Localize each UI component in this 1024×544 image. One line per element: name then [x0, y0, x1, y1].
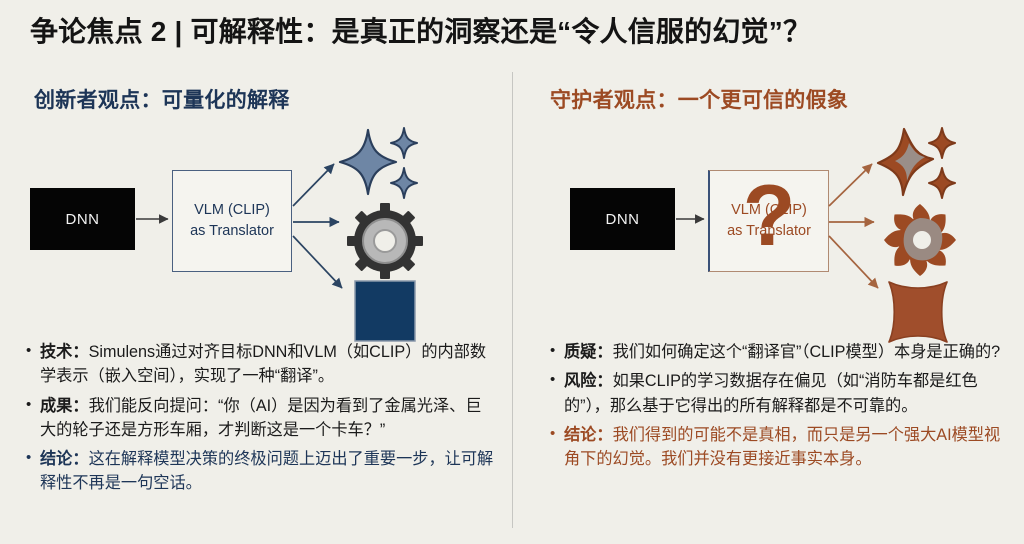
- bullet-body: Simulens通过对齐目标DNN和VLM（如CLIP）的内部数学表示（嵌入空间…: [40, 343, 486, 385]
- page-title: 争论焦点 2 | 可解释性：是真正的洞察还是“令人信服的幻觉”？: [30, 8, 1004, 52]
- bullet-dot: •: [26, 447, 40, 496]
- bullet-list-innovator: • 技术：Simulens通过对齐目标DNN和VLM（如CLIP）的内部数学表示…: [26, 340, 496, 501]
- column-heading-innovator: 创新者观点：可量化的解释: [34, 84, 502, 114]
- bullet-body: 我们能反向提问：“你（AI）是因为看到了金属光泽、巨大的轮子还是方形车厢，才判断…: [40, 397, 482, 439]
- bullet-dot: •: [26, 340, 40, 389]
- diagram-innovator: DNN VLM (CLIP) as Translator: [12, 120, 502, 325]
- gear-icon: [878, 200, 962, 280]
- bullet-dot: •: [26, 394, 40, 443]
- bullet-dot: •: [550, 369, 564, 418]
- diagram-guardian: DNN ? VLM (CLIP) as Translator: [528, 120, 1018, 325]
- vlm-box-right-line2: as Translator: [727, 221, 811, 242]
- bullet-text: 成果：我们能反向提问：“你（AI）是因为看到了金属光泽、巨大的轮子还是方形车厢，…: [40, 394, 496, 443]
- sparkle-icon: [338, 126, 424, 204]
- sparkle-icon: [876, 126, 962, 204]
- square-icon: [354, 280, 416, 342]
- list-item: • 成果：我们能反向提问：“你（AI）是因为看到了金属光泽、巨大的轮子还是方形车…: [26, 394, 496, 443]
- column-divider: [512, 72, 513, 528]
- bullet-lead: 质疑：: [564, 343, 613, 361]
- bullet-text: 结论：这在解释模型决策的终极问题上迈出了重要一步，让可解释性不再是一句空话。: [40, 447, 496, 496]
- bullet-body: 如果CLIP的学习数据存在偏见（如“消防车都是红色的”），那么基于它得出的所有解…: [564, 372, 978, 414]
- page-title-text: 争论焦点 2 | 可解释性：是真正的洞察还是“令人信服的幻觉”？: [30, 10, 811, 50]
- bullet-lead: 技术：: [40, 343, 89, 361]
- list-item: • 结论：这在解释模型决策的终极问题上迈出了重要一步，让可解释性不再是一句空话。: [26, 447, 496, 496]
- vlm-box-left-line2: as Translator: [190, 221, 274, 242]
- bullet-lead: 风险：: [564, 372, 613, 390]
- bullet-text: 风险：如果CLIP的学习数据存在偏见（如“消防车都是红色的”），那么基于它得出的…: [564, 369, 1012, 418]
- square-icon: [884, 280, 952, 344]
- bullet-body: 这在解释模型决策的终极问题上迈出了重要一步，让可解释性不再是一句空话。: [40, 450, 493, 492]
- gear-icon: [346, 202, 424, 280]
- bullet-text: 结论：我们得到的可能不是真相，而只是另一个强大AI模型视角下的幻觉。我们并没有更…: [564, 423, 1012, 472]
- vlm-box-right-line1: VLM (CLIP): [731, 200, 807, 221]
- vlm-box-left-line1: VLM (CLIP): [194, 200, 270, 221]
- slide-root: 争论焦点 2 | 可解释性：是真正的洞察还是“令人信服的幻觉”？ 创新者观点：可…: [0, 0, 1024, 544]
- list-item: • 技术：Simulens通过对齐目标DNN和VLM（如CLIP）的内部数学表示…: [26, 340, 496, 389]
- list-item: • 风险：如果CLIP的学习数据存在偏见（如“消防车都是红色的”），那么基于它得…: [550, 369, 1012, 418]
- bullet-text: 质疑：我们如何确定这个“翻译官”（CLIP模型）本身是正确的?: [564, 340, 1012, 364]
- bullet-dot: •: [550, 423, 564, 472]
- column-guardian: 守护者观点：一个更可信的假象 DNN ? VLM (CLIP) as Trans…: [528, 72, 1018, 538]
- column-heading-guardian: 守护者观点：一个更可信的假象: [550, 84, 1018, 114]
- bullet-body: 我们如何确定这个“翻译官”（CLIP模型）本身是正确的?: [613, 343, 1001, 361]
- list-item: • 结论：我们得到的可能不是真相，而只是另一个强大AI模型视角下的幻觉。我们并没…: [550, 423, 1012, 472]
- bullet-lead: 结论：: [40, 450, 89, 468]
- column-innovator: 创新者观点：可量化的解释 DNN VLM (CLIP) as Translato…: [12, 72, 502, 538]
- bullet-list-guardian: • 质疑：我们如何确定这个“翻译官”（CLIP模型）本身是正确的? • 风险：如…: [550, 340, 1012, 476]
- bullet-dot: •: [550, 340, 564, 364]
- list-item: • 质疑：我们如何确定这个“翻译官”（CLIP模型）本身是正确的?: [550, 340, 1012, 364]
- bullet-body: 我们得到的可能不是真相，而只是另一个强大AI模型视角下的幻觉。我们并没有更接近事…: [564, 426, 1000, 468]
- bullet-text: 技术：Simulens通过对齐目标DNN和VLM（如CLIP）的内部数学表示（嵌…: [40, 340, 496, 389]
- bullet-lead: 成果：: [40, 397, 89, 415]
- bullet-lead: 结论：: [564, 426, 613, 444]
